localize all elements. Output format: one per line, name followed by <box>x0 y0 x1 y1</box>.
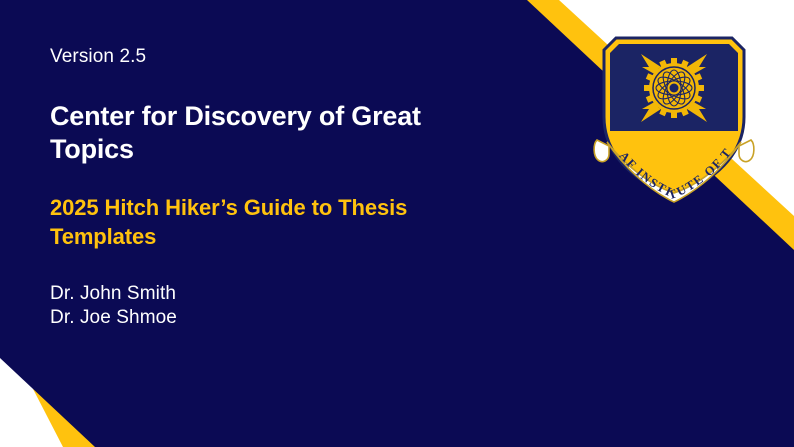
author-name: Dr. John Smith <box>50 282 510 306</box>
page-title: Center for Discovery of Great Topics <box>50 100 510 166</box>
author-list: Dr. John Smith Dr. Joe Shmoe <box>50 282 510 330</box>
author-name: Dr. Joe Shmoe <box>50 306 510 330</box>
afit-seal-icon: AF INSTITUTE OF TECHNOLOGY <box>583 22 765 208</box>
title-slide: Version 2.5 Center for Discovery of Grea… <box>0 0 794 447</box>
afit-seal-logo: AF INSTITUTE OF TECHNOLOGY <box>583 22 765 208</box>
page-subtitle: 2025 Hitch Hiker’s Guide to Thesis Templ… <box>50 193 510 251</box>
version-label: Version 2.5 <box>50 44 510 70</box>
slide-content: Version 2.5 Center for Discovery of Grea… <box>50 44 510 330</box>
